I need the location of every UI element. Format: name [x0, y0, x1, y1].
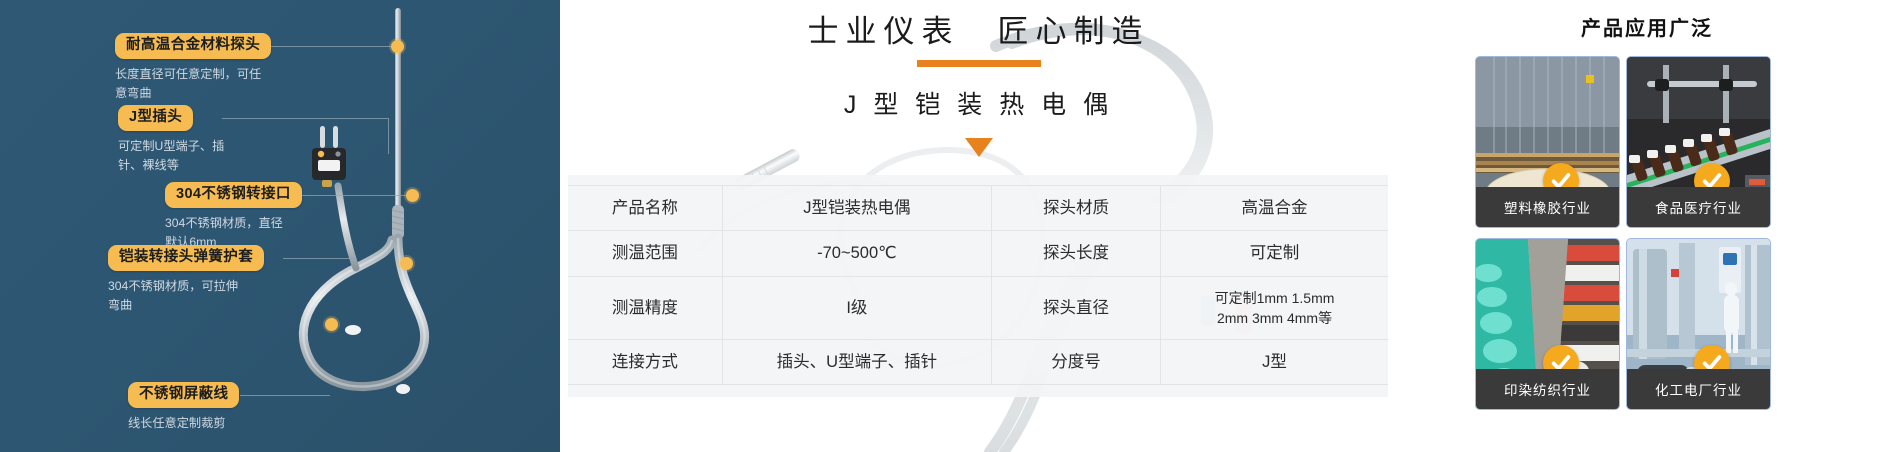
leader-line-2-drop: [388, 118, 389, 154]
table-row: 产品名称 J型铠装热电偶 探头材质 高温合金: [568, 186, 1388, 231]
callout-shield-wire: 不锈钢屏蔽线 线长任意定制裁剪: [128, 382, 239, 433]
triangle-down-icon: [965, 138, 993, 157]
spec-value: 插头、U型端子、插针: [722, 340, 991, 385]
spec-table-grid: 产品名称 J型铠装热电偶 探头材质 高温合金 测温范围 -70~500℃ 探头长…: [568, 185, 1388, 385]
application-card[interactable]: 印染纺织行业: [1475, 238, 1620, 410]
table-row: 测温精度 I级 探头直径 可定制1mm 1.5mm 2mm 3mm 4mm等: [568, 276, 1388, 340]
spec-value: 可定制: [1161, 231, 1388, 276]
spec-key: 测温范围: [568, 231, 722, 276]
leader-line-2: [222, 118, 388, 119]
callout-adapter: 304不锈钢转接口 304不锈钢材质，直径 默认6mm: [165, 182, 302, 251]
hotspot-dot-5: [325, 318, 338, 331]
callout-desc: 304不锈钢材质，可拉伸 弯曲: [108, 277, 264, 315]
leader-line-3: [299, 195, 409, 196]
callout-probe: 耐高温合金材料探头 长度直径可任意定制，可任 意弯曲: [115, 33, 271, 102]
center-spec-panel: 士业仪表 匠心制造 J 型 铠 装 热 电 偶 产品名称 J型铠装热电偶 探头材…: [560, 0, 1397, 452]
spec-value: -70~500℃: [722, 231, 991, 276]
application-card[interactable]: 食品医疗行业: [1626, 56, 1771, 228]
application-caption: 食品医疗行业: [1627, 187, 1770, 227]
spec-key: 探头直径: [992, 276, 1161, 340]
spec-value: I级: [722, 276, 991, 340]
callout-label: 耐高温合金材料探头: [115, 33, 271, 59]
table-row: 测温范围 -70~500℃ 探头长度 可定制: [568, 231, 1388, 276]
spec-key: 测温精度: [568, 276, 722, 340]
center-headline: 士业仪表 匠心制造: [560, 6, 1397, 51]
application-caption: 印染纺织行业: [1476, 369, 1619, 409]
spec-value: J型铠装热电偶: [722, 186, 991, 231]
callout-label: J型插头: [118, 105, 193, 131]
callout-desc: 线长任意定制裁剪: [128, 414, 239, 433]
leader-line-4: [283, 258, 355, 259]
application-card-grid: 塑料橡胶行业: [1475, 56, 1769, 410]
callout-plug: J型插头 可定制U型端子、插 针、裸线等: [118, 105, 224, 174]
specification-table: 产品名称 J型铠装热电偶 探头材质 高温合金 测温范围 -70~500℃ 探头长…: [568, 175, 1388, 397]
application-caption: 塑料橡胶行业: [1476, 187, 1619, 227]
spec-value: 高温合金: [1161, 186, 1388, 231]
callout-spring-sleeve: 铠装转接头弹簧护套 304不锈钢材质，可拉伸 弯曲: [108, 245, 264, 314]
application-card[interactable]: 塑料橡胶行业: [1475, 56, 1620, 228]
callout-desc: 可定制U型端子、插 针、裸线等: [118, 137, 224, 175]
spec-key: 探头材质: [992, 186, 1161, 231]
callout-desc: 长度直径可任意定制，可任 意弯曲: [115, 65, 271, 103]
product-detail-page: 耐高温合金材料探头 长度直径可任意定制，可任 意弯曲 J型插头 可定制U型端子、…: [0, 0, 1897, 452]
table-row: 连接方式 插头、U型端子、插针 分度号 J型: [568, 340, 1388, 385]
spec-value: J型: [1161, 340, 1388, 385]
callout-label: 不锈钢屏蔽线: [128, 382, 239, 408]
leader-line-1: [268, 46, 393, 47]
headline-underline: [917, 60, 1041, 67]
center-subhead: J 型 铠 装 热 电 偶: [560, 85, 1397, 121]
leader-line-5: [240, 395, 330, 396]
hotspot-dot-4: [400, 257, 413, 270]
left-feature-panel: 耐高温合金材料探头 长度直径可任意定制，可任 意弯曲 J型插头 可定制U型端子、…: [0, 0, 560, 452]
hotspot-dot-3: [406, 189, 419, 202]
spec-key: 探头长度: [992, 231, 1161, 276]
spec-value: 可定制1mm 1.5mm 2mm 3mm 4mm等: [1161, 276, 1388, 340]
applications-title: 产品应用广泛: [1397, 12, 1897, 41]
callout-label: 304不锈钢转接口: [165, 182, 302, 208]
application-card[interactable]: 化工电厂行业: [1626, 238, 1771, 410]
spec-key: 产品名称: [568, 186, 722, 231]
hotspot-dot-1: [391, 40, 404, 53]
spec-key: 分度号: [992, 340, 1161, 385]
right-applications-panel: 产品应用广泛: [1397, 0, 1897, 452]
spec-key: 连接方式: [568, 340, 722, 385]
callout-label: 铠装转接头弹簧护套: [108, 245, 264, 271]
application-caption: 化工电厂行业: [1627, 369, 1770, 409]
